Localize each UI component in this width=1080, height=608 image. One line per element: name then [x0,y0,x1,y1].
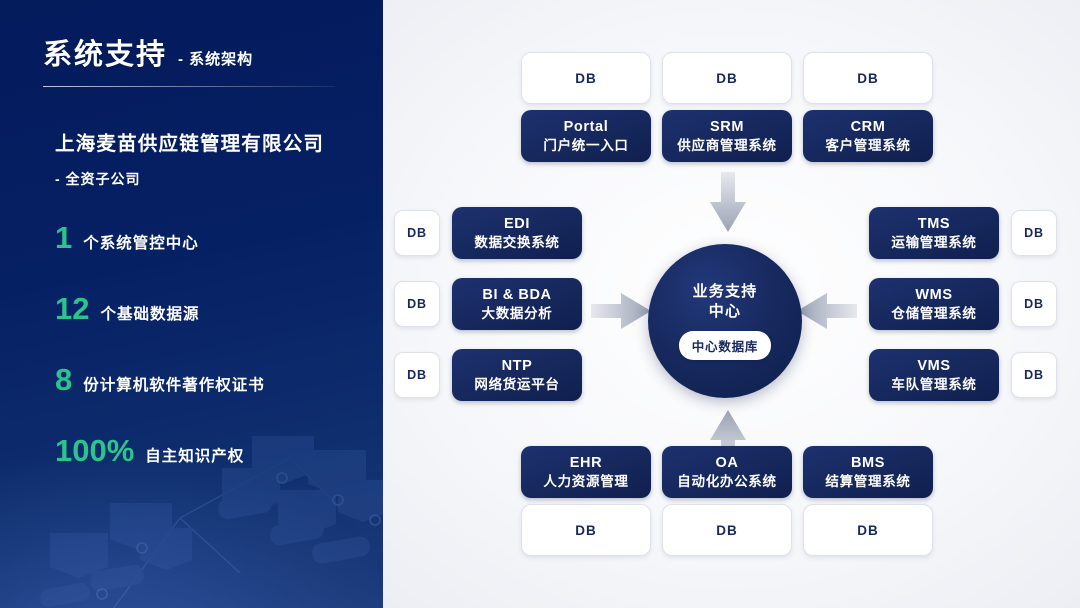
sidebar-title-block: 系统支持 - 系统架构 [43,31,339,87]
sidebar-panel: 系统支持 - 系统架构 上海麦苗供应链管理有限公司 - 全资子公司 1个系统管控… [0,0,383,608]
card-code: WMS [915,286,952,304]
card-code: OA [716,454,739,472]
card-code: DB [407,368,427,382]
db-card-right-0[interactable]: DB [1011,210,1057,256]
card-code: Portal [564,118,609,136]
system-card-bms[interactable]: BMS结算管理系统 [803,446,933,498]
card-code: EHR [570,454,602,472]
page-subtitle: - 系统架构 [178,48,253,69]
db-card-bottom-2[interactable]: DB [803,504,933,556]
stat-row: 8份计算机软件著作权证书 [55,364,355,435]
card-name: 客户管理系统 [825,137,910,155]
card-code: DB [575,523,597,538]
db-card-top-2[interactable]: DB [803,52,933,104]
stats-list: 1个系统管控中心12个基础数据源8份计算机软件著作权证书100%自主知识产权 [55,222,355,506]
system-card-oa[interactable]: OA自动化办公系统 [662,446,792,498]
card-code: DB [857,523,879,538]
hub-database-pill: 中心数据库 [679,331,772,360]
card-code: DB [407,226,427,240]
system-card-ehr[interactable]: EHR人力资源管理 [521,446,651,498]
card-name: 网络货运平台 [474,376,559,394]
page-title: 系统支持 [43,31,167,73]
system-card-tms[interactable]: TMS运输管理系统 [869,207,999,259]
card-code: DB [716,523,738,538]
card-code: EDI [504,215,530,233]
arrow-right-to-hub [795,288,857,334]
system-card-vms[interactable]: VMS车队管理系统 [869,349,999,401]
card-name: 数据交换系统 [474,234,559,252]
card-code: VMS [917,357,950,375]
db-card-top-1[interactable]: DB [662,52,792,104]
card-code: SRM [710,118,744,136]
db-card-right-1[interactable]: DB [1011,281,1057,327]
title-divider [43,86,335,87]
card-name: 仓储管理系统 [891,305,976,323]
system-card-wms[interactable]: WMS仓储管理系统 [869,278,999,330]
db-card-left-0[interactable]: DB [394,210,440,256]
system-card-bibda[interactable]: BI & BDA大数据分析 [452,278,582,330]
db-card-right-2[interactable]: DB [1011,352,1057,398]
card-code: CRM [851,118,886,136]
system-card-srm[interactable]: SRM供应商管理系统 [662,110,792,162]
company-name: 上海麦苗供应链管理有限公司 [55,127,324,156]
card-code: DB [407,297,427,311]
stat-row: 100%自主知识产权 [55,435,355,506]
card-code: BI & BDA [482,286,551,304]
card-code: DB [857,71,879,86]
card-name: 结算管理系统 [825,473,910,491]
card-code: DB [575,71,597,86]
card-name: 人力资源管理 [543,473,628,491]
stat-label: 个基础数据源 [100,307,199,323]
arrow-top-to-hub [705,172,751,234]
hub-title: 业务支持 中心 [693,282,758,322]
slide-root: 系统支持 - 系统架构 上海麦苗供应链管理有限公司 - 全资子公司 1个系统管控… [0,0,1080,608]
card-name: 供应商管理系统 [677,137,776,155]
stat-label: 自主知识产权 [145,449,244,465]
card-code: BMS [851,454,885,472]
stat-number: 8 [55,364,72,395]
db-card-left-1[interactable]: DB [394,281,440,327]
company-subtitle: - 全资子公司 [55,169,324,189]
card-name: 运输管理系统 [891,234,976,252]
card-code: DB [1024,368,1044,382]
stat-number: 1 [55,222,72,253]
architecture-diagram: 业务支持 中心 中心数据库 DBPortal门户统一入口DBSRM供应商管理系统… [383,0,1080,608]
system-card-edi[interactable]: EDI数据交换系统 [452,207,582,259]
card-code: DB [1024,297,1044,311]
card-code: NTP [502,357,533,375]
stat-row: 12个基础数据源 [55,293,355,364]
company-block: 上海麦苗供应链管理有限公司 - 全资子公司 [55,127,324,189]
stat-row: 1个系统管控中心 [55,222,355,293]
stat-label: 个系统管控中心 [83,236,199,252]
db-card-left-2[interactable]: DB [394,352,440,398]
system-card-portal[interactable]: Portal门户统一入口 [521,110,651,162]
stat-number: 100% [55,435,134,466]
db-card-bottom-1[interactable]: DB [662,504,792,556]
system-card-crm[interactable]: CRM客户管理系统 [803,110,933,162]
card-code: TMS [918,215,950,233]
stat-number: 12 [55,293,89,324]
arrow-left-to-hub [591,288,653,334]
card-name: 门户统一入口 [543,137,628,155]
card-name: 自动化办公系统 [677,473,776,491]
system-card-ntp[interactable]: NTP网络货运平台 [452,349,582,401]
card-name: 车队管理系统 [891,376,976,394]
hub-center[interactable]: 业务支持 中心 中心数据库 [648,244,802,398]
db-card-top-0[interactable]: DB [521,52,651,104]
stat-label: 份计算机软件著作权证书 [83,378,265,394]
card-code: DB [1024,226,1044,240]
card-name: 大数据分析 [482,305,553,323]
card-code: DB [716,71,738,86]
db-card-bottom-0[interactable]: DB [521,504,651,556]
